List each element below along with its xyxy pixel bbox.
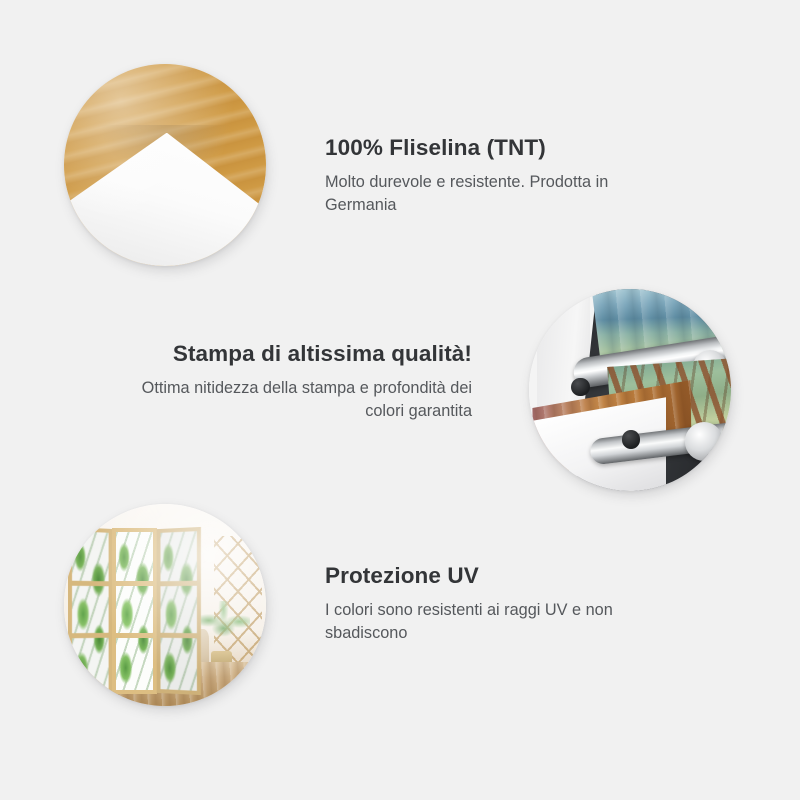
feature-body-stampa-qualita: Ottima nitidezza della stampa e profondi… bbox=[130, 377, 472, 423]
feature-heading-protezione-uv: Protezione UV bbox=[325, 563, 665, 590]
tropical-room-art bbox=[64, 504, 266, 706]
wallpaper-art bbox=[64, 64, 266, 266]
tropical-room-divider-image bbox=[64, 504, 266, 706]
feature-text-fliselina: 100% Fliselina (TNT) Molto durevole e re… bbox=[325, 135, 665, 217]
printing-press-rollers-image bbox=[529, 289, 731, 491]
printing-press-art bbox=[529, 289, 731, 491]
panel-rail bbox=[160, 581, 197, 587]
feature-body-fliselina: Molto durevole e resistente. Prodotta in… bbox=[325, 171, 665, 217]
press-knob-lower bbox=[622, 430, 640, 448]
press-knob-upper bbox=[571, 378, 589, 396]
panel-rail bbox=[72, 633, 109, 638]
divider-panel-2 bbox=[112, 528, 157, 694]
divider-panel-1 bbox=[68, 527, 113, 695]
feature-heading-stampa-qualita: Stampa di altissima qualità! bbox=[130, 341, 472, 368]
infographic-stage: 100% Fliselina (TNT) Molto durevole e re… bbox=[0, 0, 800, 800]
feature-heading-fliselina: 100% Fliselina (TNT) bbox=[325, 135, 665, 162]
paper-gloss-highlight bbox=[64, 64, 266, 266]
folding-room-divider bbox=[68, 528, 201, 694]
panel-rail bbox=[72, 581, 109, 587]
panel-rail bbox=[160, 633, 197, 639]
panel-rail bbox=[116, 633, 153, 638]
feature-text-protezione-uv: Protezione UV I colori sono resistenti a… bbox=[325, 563, 665, 645]
wallpaper-sheet-curled-corner-image bbox=[64, 64, 266, 266]
panel-rail bbox=[116, 581, 153, 586]
roller-end-cap-bottom-right bbox=[685, 422, 723, 460]
potted-palm-plant bbox=[197, 601, 250, 658]
divider-panel-3 bbox=[157, 527, 202, 695]
feature-body-protezione-uv: I colori sono resistenti ai raggi UV e n… bbox=[325, 599, 665, 645]
feature-text-stampa-qualita: Stampa di altissima qualità! Ottima niti… bbox=[130, 341, 472, 423]
